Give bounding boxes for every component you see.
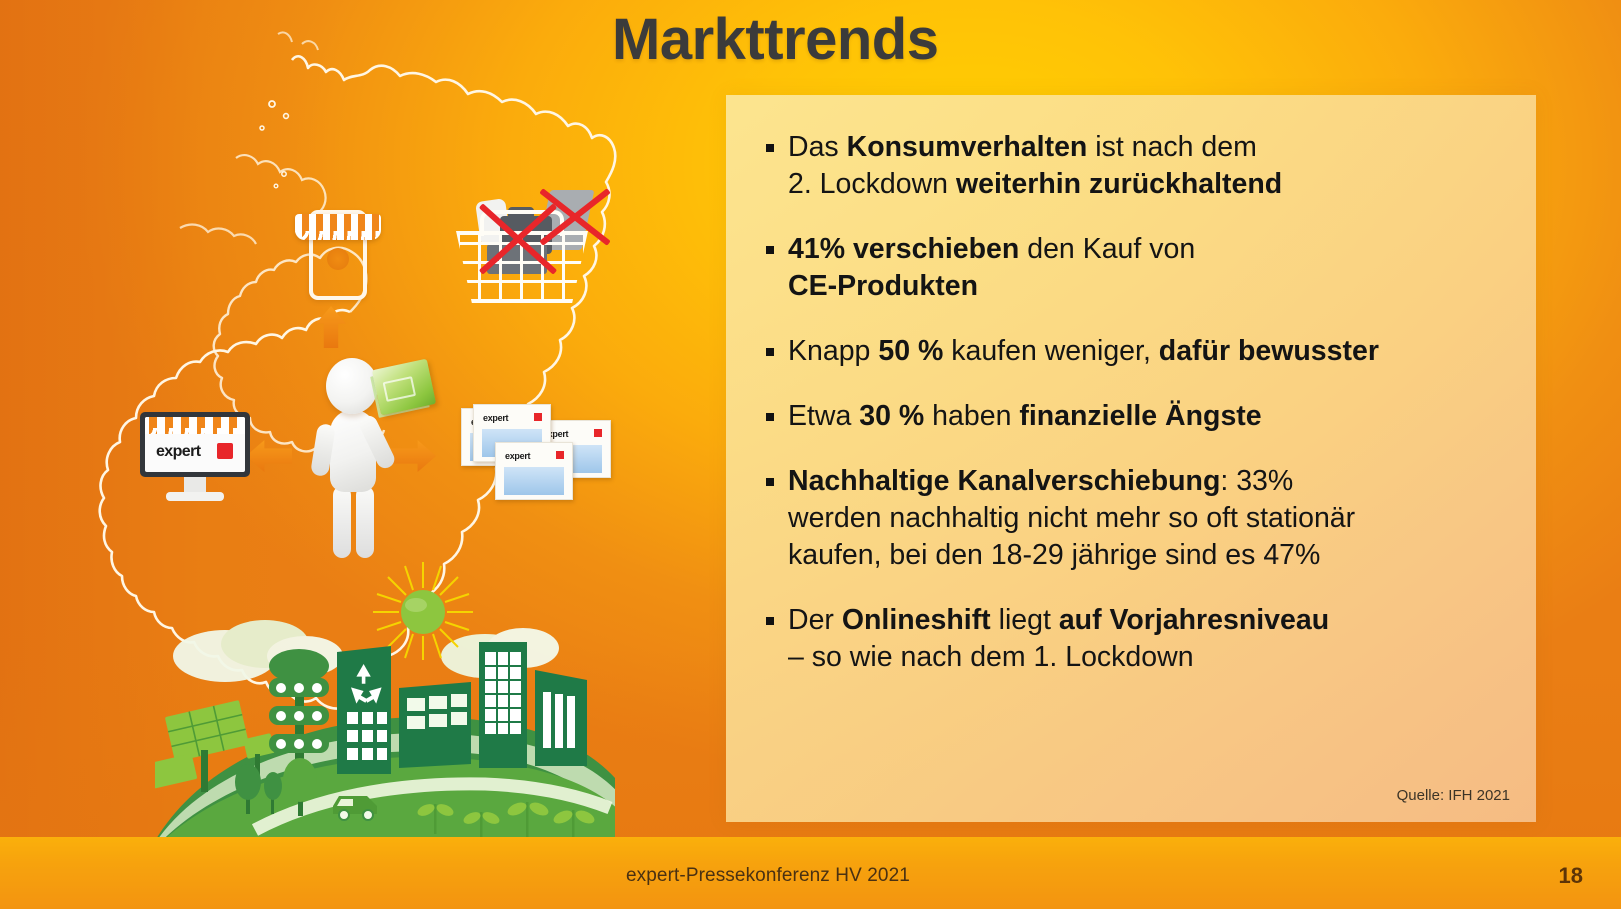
bullet-text-emphasis: 50 % (878, 335, 943, 367)
figure-head (326, 358, 378, 414)
sustainable-green-city-illustration (155, 560, 615, 860)
shopping-basket-crossed-out-icon (440, 178, 605, 303)
euro-banknotes-icon (372, 359, 436, 416)
bullet-verschieben: 41% verschieben den Kauf vonCE-Produkten (754, 231, 1518, 305)
bullet-text: werden nachhaltig nicht mehr so oft stat… (788, 502, 1355, 534)
bullet-text: liegt (991, 604, 1059, 636)
bullet-konsumverhalten: Das Konsumverhalten ist nach dem2. Lockd… (754, 129, 1518, 203)
online-shop-monitor-icon: expert (140, 412, 250, 507)
flyer-sheet (495, 442, 573, 500)
bullet-text: ist nach dem (1087, 131, 1257, 163)
content-panel: Das Konsumverhalten ist nach dem2. Lockd… (726, 95, 1536, 822)
bullet-text: Etwa (788, 400, 859, 432)
bullet-text: 2. Lockdown (788, 168, 956, 200)
bullet-text-emphasis: 30 % (859, 400, 924, 432)
bullet-text-emphasis: finanzielle Ängste (1019, 400, 1261, 432)
monitor-display: expert (145, 417, 245, 472)
expert-logo-mark (556, 451, 564, 459)
mobile-shop-icon (295, 196, 381, 302)
bullet-text: kaufen weniger, (943, 335, 1158, 367)
expert-logo-text: expert (156, 443, 200, 461)
bullet-text: Das (788, 131, 847, 163)
bullet-text-emphasis: weiterhin zurückhaltend (956, 168, 1282, 200)
bullet-text: : 33% (1220, 465, 1293, 497)
bullet-text-emphasis: CE-Produkten (788, 270, 978, 302)
bullet-text-emphasis: dafür bewusster (1159, 335, 1379, 367)
expert-logo-mark (534, 413, 542, 421)
figure-leg (333, 486, 351, 558)
page-title: Markttrends (612, 6, 938, 73)
bullet-kanalverschiebung: Nachhaltige Kanalverschiebung: 33%werden… (754, 463, 1518, 574)
source-attribution: Quelle: IFH 2021 (1397, 787, 1510, 804)
bullet-text-emphasis: Onlineshift (842, 604, 991, 636)
bullet-text: Knapp (788, 335, 878, 367)
bullet-text: den Kauf von (1019, 233, 1195, 265)
person-holding-euro-notes (300, 358, 430, 558)
bullet-text-emphasis: 41% verschieben (788, 233, 1019, 265)
bullet-text-emphasis: Nachhaltige Kanalverschiebung (788, 465, 1220, 497)
monitor-screen: expert (140, 412, 250, 477)
bullet-list: Das Konsumverhalten ist nach dem2. Lockd… (754, 129, 1518, 704)
expert-logo-mark (217, 443, 233, 459)
bullet-text: – so wie nach dem 1. Lockdown (788, 641, 1194, 673)
bullet-text-emphasis: Konsumverhalten (847, 131, 1088, 163)
slide-canvas: expert (0, 0, 1621, 909)
footer-text: expert-Pressekonferenz HV 2021 (626, 865, 910, 887)
figure-leg (356, 486, 374, 558)
bullet-weniger-bewusster: Knapp 50 % kaufen weniger, dafür bewusst… (754, 333, 1518, 370)
mobile-shop-emblem (327, 248, 349, 270)
page-number: 18 (1559, 863, 1583, 889)
expert-flyer-stacks-icon (455, 402, 610, 507)
bullet-text-emphasis: auf Vorjahresniveau (1059, 604, 1329, 636)
bullet-onlineshift: Der Onlineshift liegt auf Vorjahresnivea… (754, 602, 1518, 676)
bullet-text: haben (924, 400, 1019, 432)
mobile-shop-awning (295, 214, 381, 240)
bullet-text: Der (788, 604, 842, 636)
expert-logo-mark (594, 429, 602, 437)
monitor-stand-neck (184, 477, 206, 493)
monitor-shop-awning (145, 417, 245, 434)
monitor-stand-base (166, 492, 224, 501)
bullet-text: kaufen, bei den 18-29 jährige sind es 47… (788, 539, 1320, 571)
bullet-finanzielle-aengste: Etwa 30 % haben finanzielle Ängste (754, 398, 1518, 435)
